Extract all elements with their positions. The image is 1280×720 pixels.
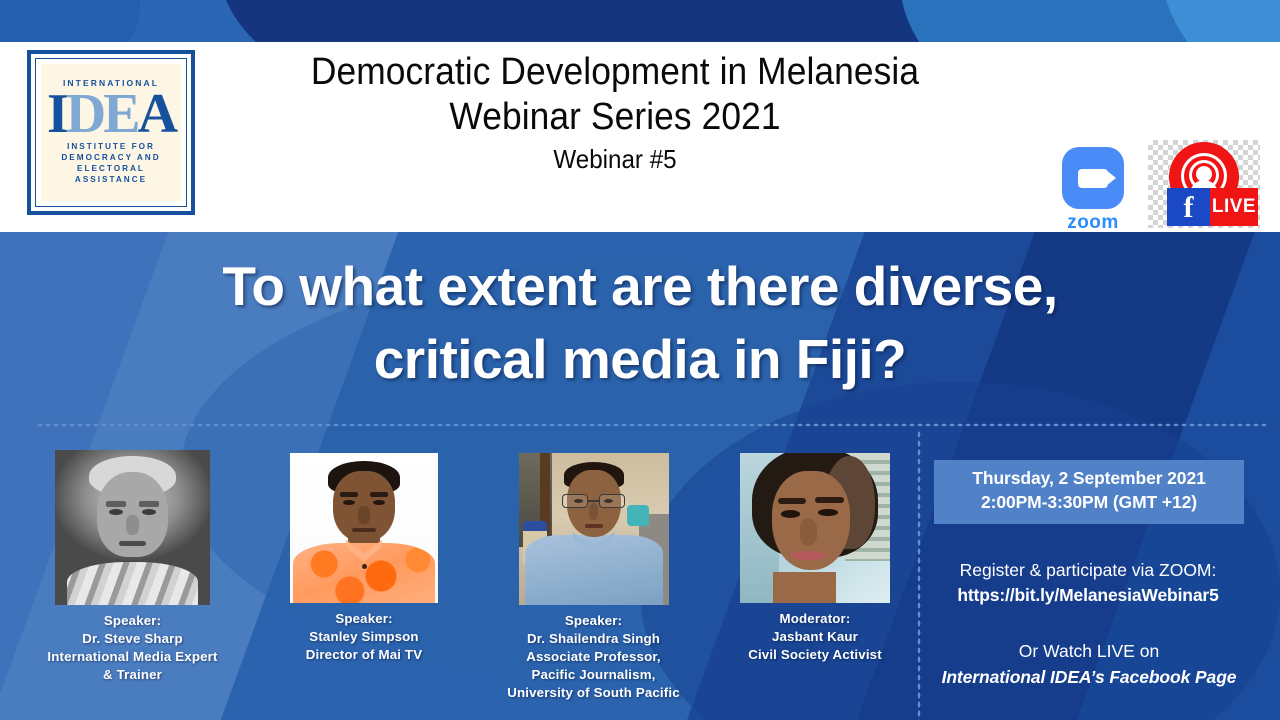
facebook-f-glyph: f — [1184, 193, 1194, 223]
logo-plate: INTERNATIONAL IDEA INSTITUTE FOR DEMOCRA… — [41, 64, 181, 201]
moderator-photo-jasbant-kaur — [740, 453, 890, 603]
zoom-app-icon — [1062, 147, 1124, 209]
facebook-icon: f — [1167, 188, 1210, 226]
shirt-shape — [293, 543, 435, 603]
eyebrow-left — [106, 501, 126, 506]
eyebrow-right — [139, 501, 159, 506]
page-title-line3: Webinar #5 — [229, 144, 1001, 175]
event-date: Thursday, 2 September 2021 — [938, 467, 1240, 491]
eye-right — [142, 509, 156, 515]
header-bar: INTERNATIONAL IDEA INSTITUTE FOR DEMOCRA… — [0, 42, 1280, 232]
top-decorative-banner — [0, 0, 1280, 42]
mouth-shape — [585, 524, 603, 527]
vertical-dotted-divider — [917, 430, 921, 720]
speaker-name: Dr. Steve Sharp — [0, 630, 265, 648]
mouth-shape — [119, 541, 147, 546]
banner-arc-5 — [0, 0, 140, 42]
livestream-block: Or Watch LIVE on International IDEA’s Fa… — [928, 638, 1250, 691]
header-title-block: Democratic Development in Melanesia Webi… — [200, 50, 1030, 175]
zoom-logo: zoom — [1053, 147, 1133, 234]
eye-right — [373, 500, 385, 505]
speaker-caption: Speaker: Dr. Shailendra Singh Associate … — [470, 612, 717, 702]
moderator-caption: Moderator: Jasbant Kaur Civil Society Ac… — [715, 610, 915, 664]
page-title-line2: Webinar Series 2021 — [229, 95, 1001, 140]
glasses-bridge — [588, 500, 598, 502]
speaker-photo-steve-sharp — [55, 450, 210, 605]
speaker-photo-shailendra-singh — [519, 453, 669, 605]
webinar-poster: INTERNATIONAL IDEA INSTITUTE FOR DEMOCRA… — [0, 0, 1280, 720]
speaker-title-line-1: International Media Expert — [0, 648, 265, 666]
speaker-title-line-1: Director of Mai TV — [250, 646, 478, 664]
logo-subtitle-1: INSTITUTE FOR — [67, 142, 155, 153]
eye-left — [343, 500, 355, 505]
speaker-name: Dr. Shailendra Singh — [470, 630, 717, 648]
nose-shape — [126, 515, 138, 535]
speaker-panel: Speaker: Dr. Steve Sharp International M… — [0, 450, 910, 720]
live-tag: LIVE — [1210, 188, 1258, 226]
moderator-name: Jasbant Kaur — [715, 628, 915, 646]
registration-link[interactable]: https://bit.ly/MelanesiaWebinar5 — [928, 583, 1248, 608]
registration-block: Register & participate via ZOOM: https:/… — [928, 558, 1248, 609]
live-label: LIVE — [1212, 196, 1256, 218]
logo-subtitle-4: ASSISTANCE — [75, 175, 147, 186]
moderator-role: Moderator: — [715, 610, 915, 628]
shirt-shape — [525, 535, 663, 605]
speaker-card: Speaker: Dr. Steve Sharp International M… — [0, 450, 265, 684]
speaker-caption: Speaker: Dr. Steve Sharp International M… — [0, 612, 265, 684]
moderator-title-line-1: Civil Society Activist — [715, 646, 915, 664]
page-title-line1: Democratic Development in Melanesia — [229, 50, 1001, 95]
speaker-photo-stanley-simpson — [290, 453, 438, 603]
nose-shape — [800, 519, 817, 545]
logo-inner-frame: INTERNATIONAL IDEA INSTITUTE FOR DEMOCRA… — [35, 58, 187, 207]
speaker-title-line-2: & Trainer — [0, 666, 265, 684]
livestream-label: Or Watch LIVE on — [928, 638, 1250, 664]
lens-left — [562, 494, 588, 508]
speaker-card: Speaker: Stanley Simpson Director of Mai… — [250, 453, 478, 664]
facebook-live-badge: f LIVE — [1148, 140, 1260, 228]
eyebrow-right — [370, 492, 388, 497]
event-time: 2:00PM-3:30PM (GMT +12) — [938, 491, 1240, 515]
speaker-caption: Speaker: Stanley Simpson Director of Mai… — [250, 610, 478, 664]
speaker-title-line-1: Associate Professor, — [470, 648, 717, 666]
shirt-shape — [67, 562, 197, 605]
speaker-name: Stanley Simpson — [250, 628, 478, 646]
speaker-role: Speaker: — [250, 610, 478, 628]
speaker-title-line-3: University of South Pacific — [470, 684, 717, 702]
nose-shape — [358, 506, 370, 524]
video-camera-icon — [1078, 169, 1108, 188]
speaker-role: Speaker: — [0, 612, 265, 630]
logo-subtitle-3: ELECTORAL — [77, 164, 145, 175]
eyebrow-left — [340, 492, 358, 497]
background-object — [627, 505, 650, 526]
neck-shape — [773, 572, 836, 604]
moderator-card: Moderator: Jasbant Kaur Civil Society Ac… — [715, 453, 915, 664]
speaker-title-line-2: Pacific Journalism, — [470, 666, 717, 684]
eyebrow-right — [815, 497, 844, 503]
logo-subtitle-2: DEMOCRACY AND — [61, 153, 160, 164]
mouth-shape — [352, 528, 376, 532]
event-info-panel: Thursday, 2 September 2021 2:00PM-3:30PM… — [928, 232, 1268, 720]
event-datetime-box: Thursday, 2 September 2021 2:00PM-3:30PM… — [934, 460, 1244, 524]
speaker-card: Speaker: Dr. Shailendra Singh Associate … — [470, 453, 717, 702]
background-jar-lid — [523, 521, 547, 530]
logo-wordmark: IDEA — [47, 89, 175, 141]
lens-right — [599, 494, 625, 508]
speaker-role: Speaker: — [470, 612, 717, 630]
nose-shape — [589, 503, 598, 520]
zoom-wordmark: zoom — [1053, 212, 1133, 234]
registration-label: Register & participate via ZOOM: — [928, 558, 1248, 583]
eye-left — [781, 510, 801, 518]
livestream-target[interactable]: International IDEA’s Facebook Page — [928, 664, 1250, 690]
eye-right — [818, 509, 838, 517]
eyebrow-left — [778, 498, 807, 504]
international-idea-logo: INTERNATIONAL IDEA INSTITUTE FOR DEMOCRA… — [27, 50, 195, 215]
mouth-shape — [790, 551, 826, 560]
